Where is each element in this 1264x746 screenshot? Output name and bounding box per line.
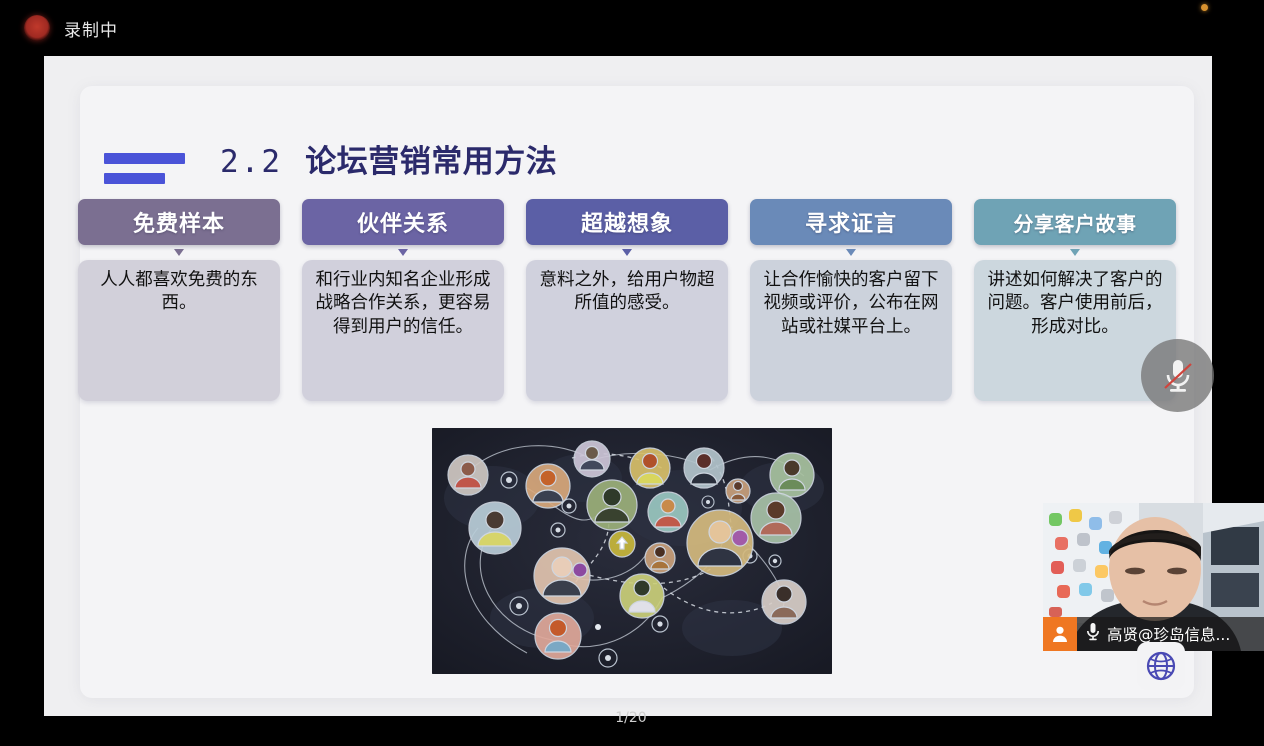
social-network-illustration	[432, 428, 832, 674]
card-arrow-3	[622, 249, 632, 256]
microphone-muted-glyph	[1161, 356, 1195, 396]
microphone-muted-icon[interactable]	[1141, 339, 1214, 412]
globe-glyph	[1145, 650, 1177, 682]
card-header-4: 寻求证言	[750, 199, 952, 245]
card-arrow-1	[174, 249, 184, 256]
slide-title-row: 2.2 论坛营销常用方法	[44, 96, 1212, 176]
microphone-glyph	[1086, 622, 1100, 642]
title-accent-bars	[104, 153, 185, 193]
title-label: 论坛营销常用方法	[305, 144, 557, 180]
avatar-glyph	[1050, 624, 1070, 644]
recording-bar: 录制中	[0, 0, 1264, 56]
participant-video-tile[interactable]: 高贤@珍岛信息...	[1043, 503, 1264, 651]
page-title: 2.2 论坛营销常用方法	[220, 136, 557, 181]
person-avatar-icon	[1043, 617, 1077, 651]
card-body-2: 和行业内知名企业形成战略合作关系，更容易得到用户的信任。	[302, 260, 504, 401]
method-card-4: 寻求证言 让合作愉快的客户留下视频或评价，公布在网站或社媒平台上。	[750, 199, 952, 401]
card-arrow-5	[1070, 249, 1080, 256]
globe-icon[interactable]	[1137, 642, 1185, 690]
presentation-slide: 2.2 论坛营销常用方法 免费样本 人人都喜欢免费的东西。 伙伴关系 和行业内知…	[44, 56, 1212, 716]
method-card-2: 伙伴关系 和行业内知名企业形成战略合作关系，更容易得到用户的信任。	[302, 199, 504, 401]
microphone-icon	[1086, 622, 1100, 647]
card-header-1: 免费样本	[78, 199, 280, 245]
card-body-1: 人人都喜欢免费的东西。	[78, 260, 280, 401]
record-dot-icon	[24, 15, 50, 41]
network-graphic	[432, 428, 832, 674]
recording-label: 录制中	[64, 16, 118, 41]
card-arrow-4	[846, 249, 856, 256]
title-number: 2.2	[220, 144, 282, 180]
card-arrow-2	[398, 249, 408, 256]
card-header-3: 超越想象	[526, 199, 728, 245]
page-indicator: 1/20	[594, 710, 668, 726]
card-header-2: 伙伴关系	[302, 199, 504, 245]
card-body-4: 让合作愉快的客户留下视频或评价，公布在网站或社媒平台上。	[750, 260, 952, 401]
method-card-1: 免费样本 人人都喜欢免费的东西。	[78, 199, 280, 401]
card-header-5: 分享客户故事	[974, 199, 1176, 245]
method-card-3: 超越想象 意料之外，给用户物超所值的感受。	[526, 199, 728, 401]
status-dot-indicator	[1201, 4, 1208, 11]
method-cards: 免费样本 人人都喜欢免费的东西。 伙伴关系 和行业内知名企业形成战略合作关系，更…	[78, 199, 1188, 401]
card-body-3: 意料之外，给用户物超所值的感受。	[526, 260, 728, 401]
